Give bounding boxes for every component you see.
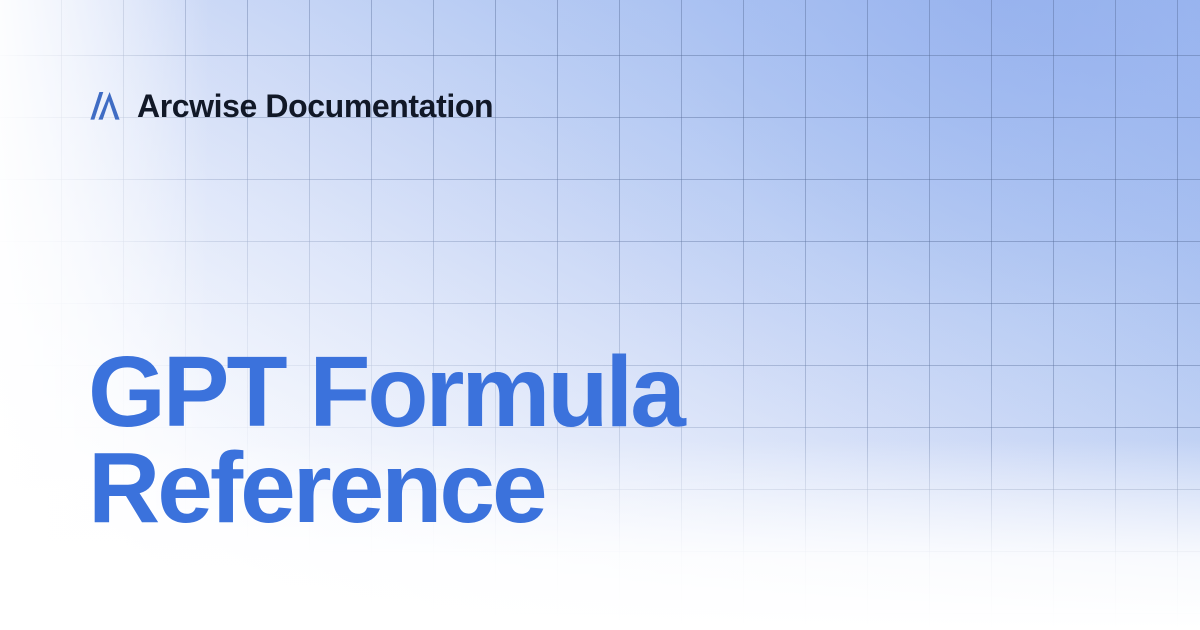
og-card: Arcwise Documentation GPT Formula Refere… xyxy=(0,0,1200,630)
brand-lockup: Arcwise Documentation xyxy=(88,84,493,128)
card-content: Arcwise Documentation GPT Formula Refere… xyxy=(0,0,1200,630)
page-title: GPT Formula Reference xyxy=(88,344,683,536)
page-title-line-1: GPT Formula xyxy=(88,344,683,440)
brand-name-label: Arcwise Documentation xyxy=(137,90,493,122)
page-title-line-2: Reference xyxy=(88,440,683,536)
arcwise-arc-logo-icon xyxy=(88,89,122,123)
